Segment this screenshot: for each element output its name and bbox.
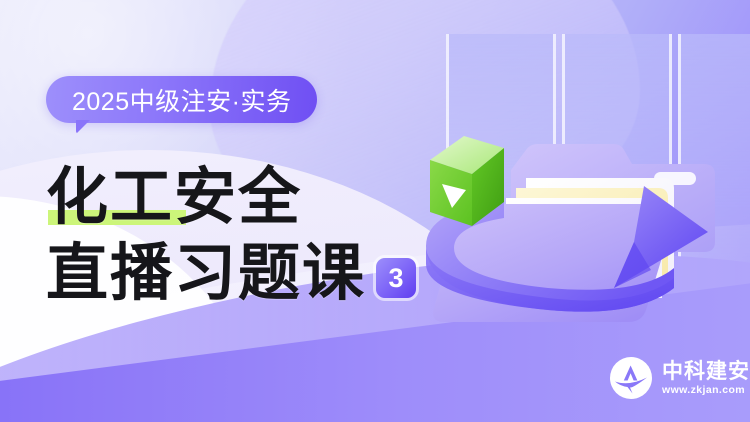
background-panel-1	[446, 34, 556, 364]
title-line-1: 化工安全	[46, 155, 456, 231]
brand-name: 中科建安	[662, 360, 750, 383]
course-banner: 2025中级注安·实务 化工安全 直播习题课 3 中科建安 www.zkjan.…	[0, 0, 750, 422]
folder-back	[511, 144, 715, 252]
refresh-arrow	[426, 186, 708, 312]
brand-logo-text: 中科建安 www.zkjan.com	[662, 360, 750, 397]
brand-url: www.zkjan.com	[662, 383, 750, 397]
folder-refresh-illustration	[408, 92, 750, 352]
background-panel-3	[678, 34, 750, 364]
badge-tail	[76, 120, 90, 134]
course-title-line2: 直播习题课	[46, 239, 366, 307]
mountain-swoosh-circle-icon	[609, 356, 653, 400]
course-category-badge: 2025中级注安·实务	[46, 76, 317, 123]
course-category-label: 2025中级注安·实务	[72, 82, 291, 118]
background-panel-2	[562, 34, 672, 364]
course-title-line1: 化工安全	[46, 163, 302, 231]
headline-block: 化工安全 直播习题课 3	[46, 155, 456, 307]
title-line-2: 直播习题课 3	[46, 231, 456, 307]
documents-stack	[506, 178, 674, 298]
episode-number-badge: 3	[376, 258, 416, 298]
folder-front	[433, 204, 675, 322]
background-bottom-band	[0, 365, 381, 422]
brand-logo: 中科建安 www.zkjan.com	[609, 356, 750, 400]
